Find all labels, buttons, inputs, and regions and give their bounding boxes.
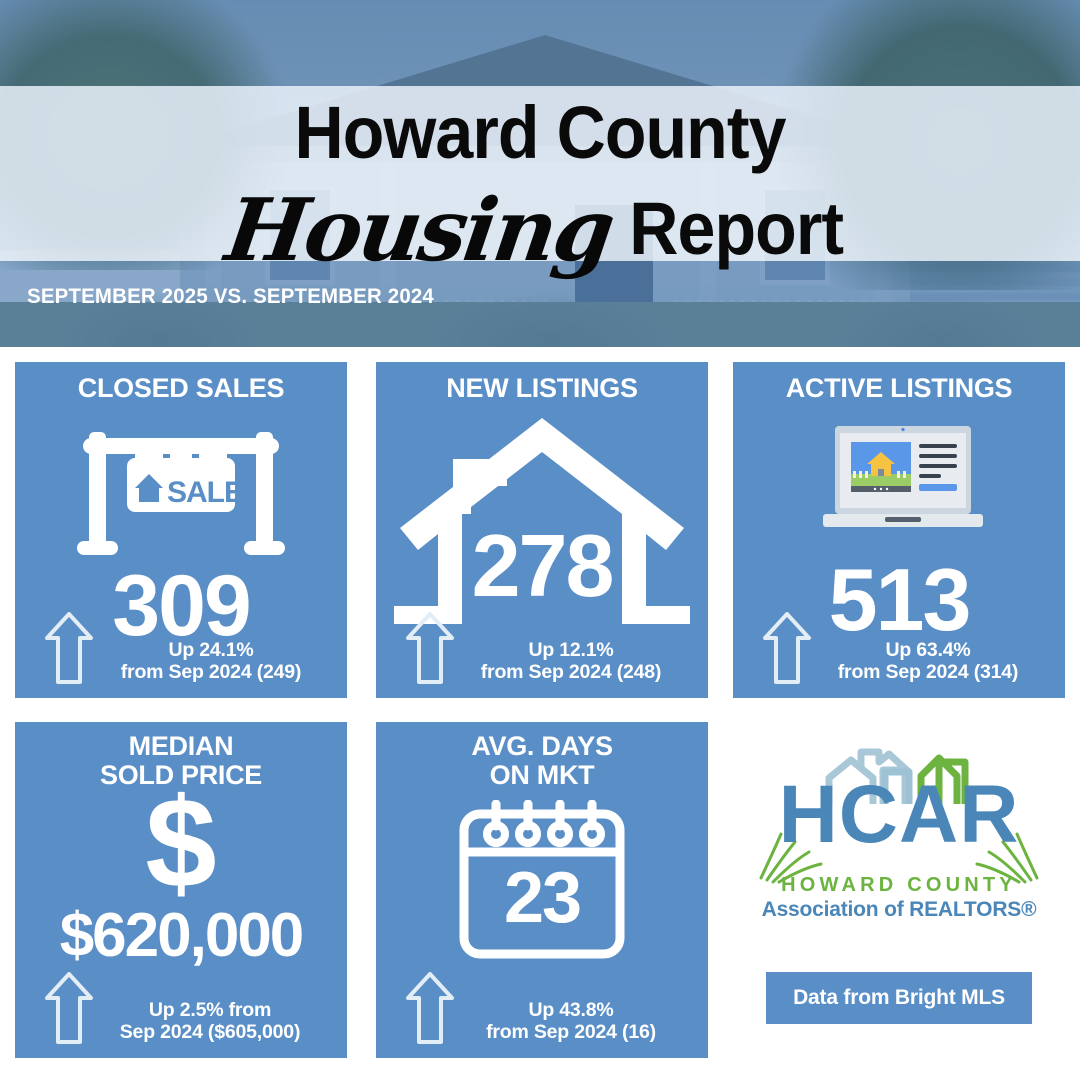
metric-card-new-listings: NEW LISTINGS 278 Up 12.1% from Sep 2024 … bbox=[376, 362, 708, 698]
title-line-secondary: HousingReport bbox=[0, 174, 1080, 275]
card-title-new-listings: NEW LISTINGS bbox=[376, 374, 708, 403]
delta-percent: Up 43.8% bbox=[440, 999, 702, 1022]
data-source-badge: Data from Bright MLS bbox=[766, 972, 1032, 1024]
metric-card-active-listings: ACTIVE LISTINGS bbox=[733, 362, 1065, 698]
metric-card-closed-sales: CLOSED SALES SALE 309 bbox=[15, 362, 347, 698]
delta-percent: Up 2.5% from bbox=[79, 999, 341, 1022]
laptop-listing-icon bbox=[823, 424, 983, 536]
housing-report-infographic: Howard County HousingReport SEPTEMBER 20… bbox=[0, 0, 1080, 1080]
svg-text:23: 23 bbox=[504, 858, 580, 938]
delta-comparison: from Sep 2024 (249) bbox=[85, 661, 337, 684]
hcar-county-line: HOWARD COUNTY bbox=[733, 874, 1065, 897]
metric-value-new-listings: 278 bbox=[376, 515, 708, 617]
dollar-sign-icon: $ bbox=[15, 780, 347, 908]
card-title-closed-sales: CLOSED SALES bbox=[15, 374, 347, 403]
delta-percent: Up 24.1% bbox=[85, 639, 337, 662]
title-line-primary: Howard County bbox=[43, 90, 1037, 175]
metric-value-median-sold-price: $620,000 bbox=[15, 900, 347, 971]
card-title-line-1: AVG. DAYS bbox=[376, 732, 708, 761]
delta-comparison: from Sep 2024 (16) bbox=[440, 1021, 702, 1044]
delta-percent: Up 63.4% bbox=[797, 639, 1059, 662]
card-title-line-2: ON MKT bbox=[376, 761, 708, 790]
metric-delta-active-listings: Up 63.4% from Sep 2024 (314) bbox=[797, 639, 1059, 684]
metric-delta-new-listings: Up 12.1% from Sep 2024 (248) bbox=[440, 639, 702, 684]
header-banner: Howard County HousingReport SEPTEMBER 20… bbox=[0, 0, 1080, 347]
hcar-logo-block: HCAR HOWARD COUNTY Association of REALTO… bbox=[733, 722, 1065, 1058]
delta-comparison: from Sep 2024 (248) bbox=[440, 661, 702, 684]
title-script-word: Housing bbox=[220, 180, 618, 281]
title-report-word: Report bbox=[629, 186, 843, 271]
metric-delta-median-sold-price: Up 2.5% from Sep 2024 ($605,000) bbox=[79, 999, 341, 1044]
metric-card-median-sold-price: MEDIAN SOLD PRICE $ $620,000 Up 2.5% fro… bbox=[15, 722, 347, 1058]
metrics-grid: CLOSED SALES SALE 309 bbox=[0, 347, 1080, 1080]
delta-comparison: Sep 2024 ($605,000) bbox=[79, 1021, 341, 1044]
metric-card-avg-days-on-market: AVG. DAYS ON MKT 23 23 bbox=[376, 722, 708, 1058]
comparison-period-subtitle: SEPTEMBER 2025 VS. SEPTEMBER 2024 bbox=[27, 284, 434, 309]
metric-delta-closed-sales: Up 24.1% from Sep 2024 (249) bbox=[85, 639, 337, 684]
card-title-avg-days-on-market: AVG. DAYS ON MKT bbox=[376, 732, 708, 790]
metric-delta-avg-days-on-market: Up 43.8% from Sep 2024 (16) bbox=[440, 999, 702, 1044]
delta-comparison: from Sep 2024 (314) bbox=[797, 661, 1059, 684]
svg-text:SALE: SALE bbox=[167, 476, 243, 509]
for-sale-sign-icon: SALE bbox=[67, 420, 295, 570]
hcar-association-line: Association of REALTORS® bbox=[733, 898, 1065, 922]
calendar-icon: 23 bbox=[458, 800, 626, 960]
report-title: Howard County HousingReport bbox=[0, 86, 1080, 266]
hcar-wordmark: HCAR bbox=[733, 774, 1065, 856]
card-title-active-listings: ACTIVE LISTINGS bbox=[733, 374, 1065, 403]
delta-percent: Up 12.1% bbox=[440, 639, 702, 662]
card-title-line-1: MEDIAN bbox=[15, 732, 347, 761]
